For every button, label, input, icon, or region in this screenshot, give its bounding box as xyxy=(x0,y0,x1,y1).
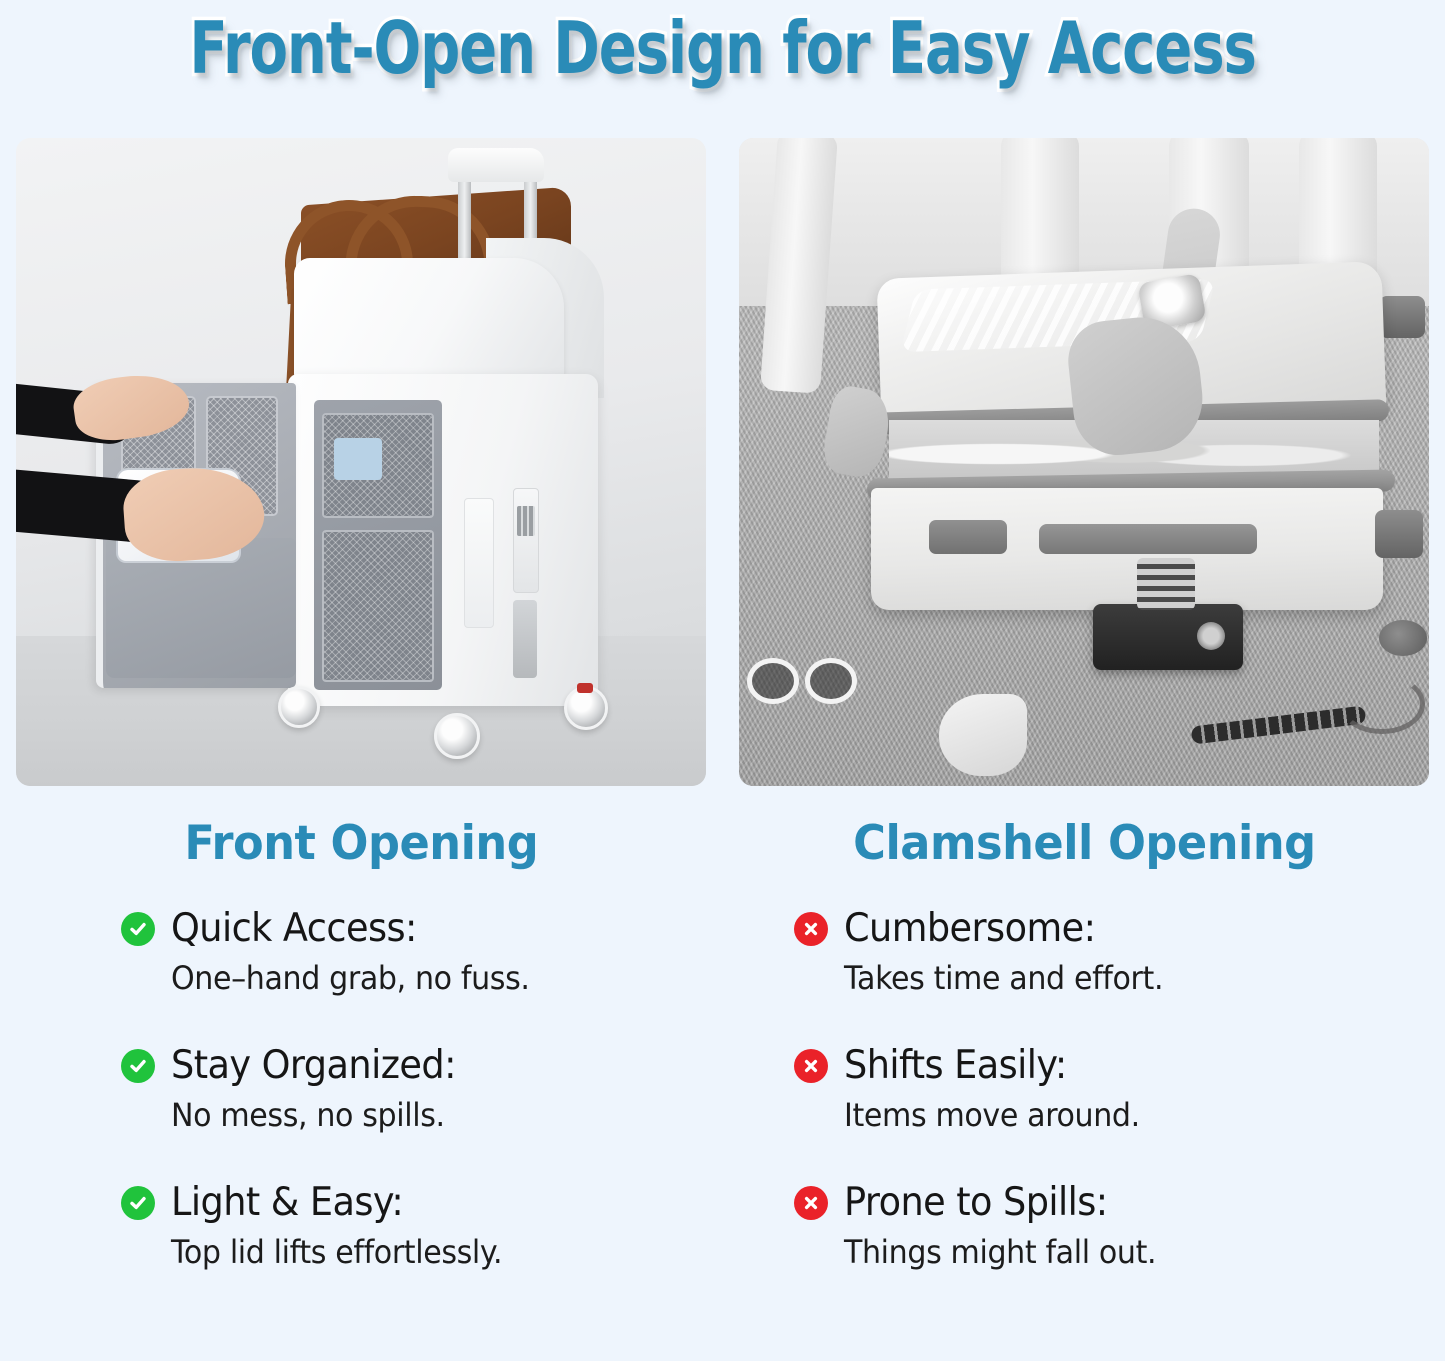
clamshell-wheel-rear xyxy=(1379,296,1425,338)
front-opening-benefit-list: Quick Access: One–hand grab, no fuss. St… xyxy=(16,906,706,1271)
scattered-camera xyxy=(1093,604,1243,670)
clamshell-opening-heading-cell: Clamshell Opening xyxy=(739,816,1429,871)
benefit-subtitle: Top lid lifts effortlessly. xyxy=(171,1233,674,1271)
drawback-title: Shifts Easily: xyxy=(844,1043,1067,1088)
benefit-subtitle: One–hand grab, no fuss. xyxy=(171,959,674,997)
x-circle-icon xyxy=(794,912,828,946)
list-item: Prone to Spills: Things might fall out. xyxy=(794,1180,1429,1271)
suitcase-top-lid xyxy=(294,258,564,378)
scattered-coin xyxy=(1379,620,1427,656)
sunglasses-lens-left xyxy=(747,658,799,704)
clamshell-opening-heading: Clamshell Opening xyxy=(853,816,1316,871)
tsa-combination-dials xyxy=(517,506,535,536)
list-item: Shifts Easily: Items move around. xyxy=(794,1043,1429,1134)
spinner-wheel-front-left xyxy=(278,686,320,728)
tsa-lock-panel xyxy=(513,488,539,593)
benefit-subtitle: No mess, no spills. xyxy=(171,1096,674,1134)
list-item: Light & Easy: Top lid lifts effortlessly… xyxy=(121,1180,706,1271)
side-panel-strip xyxy=(464,498,494,628)
check-circle-icon xyxy=(121,1186,155,1220)
benefit-title-row: Stay Organized: xyxy=(121,1043,706,1088)
x-circle-icon xyxy=(794,1186,828,1220)
benefit-title: Light & Easy: xyxy=(171,1180,403,1225)
list-item: Cumbersome: Takes time and effort. xyxy=(794,906,1429,997)
feature-comparison-columns: Quick Access: One–hand grab, no fuss. St… xyxy=(16,906,1429,1271)
drawback-subtitle: Takes time and effort. xyxy=(844,959,1394,997)
drawback-subtitle: Items move around. xyxy=(844,1096,1394,1134)
comparison-photo-row xyxy=(16,138,1429,786)
drawback-title-row: Prone to Spills: xyxy=(794,1180,1429,1225)
drawback-title-row: Shifts Easily: xyxy=(794,1043,1429,1088)
cavity-mesh-pocket-lower xyxy=(322,530,434,682)
front-opening-suitcase-photo xyxy=(16,138,706,786)
benefit-title: Quick Access: xyxy=(171,906,417,951)
benefit-title-row: Light & Easy: xyxy=(121,1180,706,1225)
benefit-title: Stay Organized: xyxy=(171,1043,456,1088)
spinner-wheel-rear-right xyxy=(564,686,608,730)
cavity-blue-item xyxy=(334,438,382,480)
scattered-cord xyxy=(1339,674,1425,734)
clamshell-drawback-list: Cumbersome: Takes time and effort. Shift… xyxy=(739,906,1429,1271)
check-circle-icon xyxy=(121,1049,155,1083)
drawback-title: Cumbersome: xyxy=(844,906,1095,951)
front-opening-heading: Front Opening xyxy=(184,816,538,871)
list-item: Quick Access: One–hand grab, no fuss. xyxy=(121,906,706,997)
spinner-wheel-front-right xyxy=(434,713,480,759)
drawback-subtitle: Things might fall out. xyxy=(844,1233,1394,1271)
section-heading-row: Front Opening Clamshell Opening xyxy=(16,816,1429,871)
clamshell-suitcase-photo xyxy=(739,138,1429,786)
suitcase-latch xyxy=(513,600,537,678)
benefit-title-row: Quick Access: xyxy=(121,906,706,951)
clamshell-wheel-front xyxy=(1375,510,1423,558)
drawback-title: Prone to Spills: xyxy=(844,1180,1108,1225)
drawback-title-row: Cumbersome: xyxy=(794,906,1429,951)
telescoping-handle-grip xyxy=(448,148,544,182)
scattered-shoe xyxy=(939,694,1027,776)
clamshell-side-handle xyxy=(1039,524,1257,554)
x-circle-icon xyxy=(794,1049,828,1083)
check-circle-icon xyxy=(121,912,155,946)
scattered-sunglasses xyxy=(747,658,863,706)
front-opening-heading-cell: Front Opening xyxy=(16,816,706,871)
list-item: Stay Organized: No mess, no spills. xyxy=(121,1043,706,1134)
sunglasses-lens-right xyxy=(805,658,857,704)
clamshell-tsa-lock xyxy=(929,520,1007,554)
page-title: Front-Open Design for Easy Access xyxy=(189,12,1255,84)
headline-banner: Front-Open Design for Easy Access xyxy=(0,0,1445,92)
